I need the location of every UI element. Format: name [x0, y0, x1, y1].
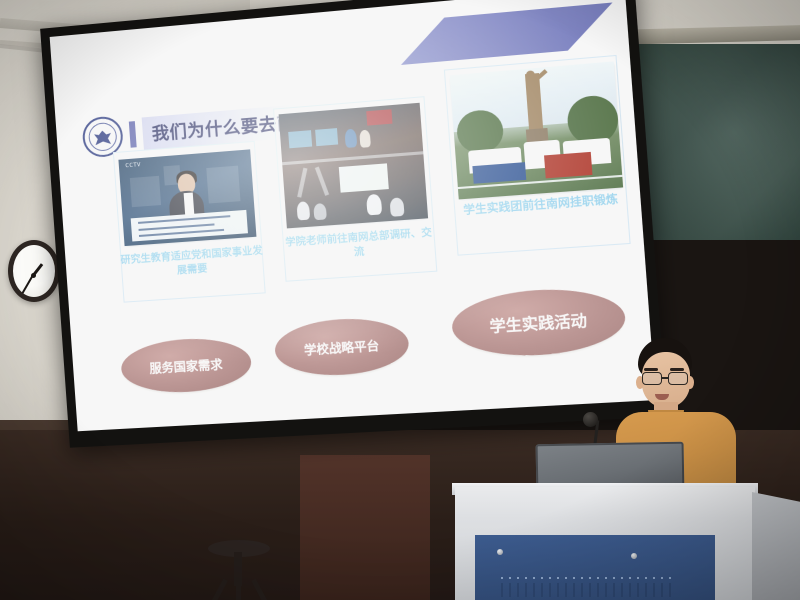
vent-slot — [533, 583, 535, 597]
vent-slot — [565, 583, 567, 597]
vent-slot — [669, 583, 671, 597]
photo-news-broadcast: CCTV — [118, 149, 256, 246]
vent-slot — [621, 583, 623, 597]
crowd-blob-5 — [345, 129, 358, 148]
vent-slot — [509, 583, 511, 597]
crowd-blob-1 — [296, 202, 310, 221]
vent-dot — [541, 577, 543, 579]
vent-dot — [589, 577, 591, 579]
vent-dot — [549, 577, 551, 579]
vent-dot — [525, 577, 527, 579]
lecture-hall-scene: 我们为什么要去南网实习? CCTV — [0, 0, 800, 600]
vent-slot — [501, 583, 503, 597]
vent-slot — [557, 583, 559, 597]
vent-slot — [589, 583, 591, 597]
vent-dot — [581, 577, 583, 579]
lower-third-line-3 — [139, 229, 225, 237]
podium-side-panel — [752, 492, 800, 600]
crowd-blob-2 — [313, 203, 327, 221]
vent-slot — [573, 583, 575, 597]
vent-dot — [613, 577, 615, 579]
glasses-bridge — [662, 377, 668, 379]
vent-dot — [557, 577, 559, 579]
pill-2-label: 学校战略平台 — [303, 336, 379, 358]
truss-1 — [297, 167, 307, 197]
lower-third-line-1 — [138, 215, 231, 224]
vent-slot — [637, 583, 639, 597]
blue-banner — [473, 162, 526, 183]
podium-vent-group — [501, 577, 691, 597]
vent-dot — [645, 577, 647, 579]
podium-screw-right — [631, 553, 637, 559]
vent-slot — [661, 583, 663, 597]
projection-screen: 我们为什么要去南网实习? CCTV — [40, 0, 667, 448]
podium-front-panel — [475, 535, 715, 600]
presentation-slide: 我们为什么要去南网实习? CCTV — [50, 0, 656, 431]
presenter-brow-left — [644, 368, 658, 371]
vent-dot — [573, 577, 575, 579]
pill-3-label: 学生实践活动 — [489, 309, 588, 337]
anchor-shirt — [184, 192, 195, 215]
vent-dot — [629, 577, 631, 579]
vent-dot — [669, 577, 671, 579]
vent-dot — [605, 577, 607, 579]
presenter-brow-right — [670, 368, 684, 371]
vent-dot — [533, 577, 535, 579]
monitor-1 — [288, 130, 312, 148]
vent-dot — [509, 577, 511, 579]
photo-control-room — [279, 103, 428, 229]
vent-dot — [653, 577, 655, 579]
crowd-blob-4 — [389, 197, 405, 216]
vent-slot — [645, 583, 647, 597]
vent-slot — [597, 583, 599, 597]
podium-screw-left — [497, 549, 503, 555]
truss-2 — [315, 166, 329, 195]
glasses-lens-left — [642, 372, 662, 385]
vent-slot — [581, 583, 583, 597]
clock-center-dot — [31, 273, 36, 278]
vent-slot — [541, 583, 543, 597]
vent-dot — [565, 577, 567, 579]
vent-slot — [549, 583, 551, 597]
projection-display — [339, 163, 389, 192]
studio-panel-1 — [130, 176, 161, 208]
crowd-blob-6 — [359, 130, 372, 148]
vent-slot — [613, 583, 615, 597]
crowd-blob-3 — [366, 194, 382, 216]
screen-frame: 我们为什么要去南网实习? CCTV — [40, 0, 667, 448]
vent-dot — [517, 577, 519, 579]
red-signage — [366, 110, 393, 126]
vent-dot — [661, 577, 663, 579]
studio-panel-2 — [206, 166, 240, 203]
mezzanine-rail — [282, 151, 423, 165]
vent-slot — [605, 583, 607, 597]
vent-dot — [501, 577, 503, 579]
vent-dot — [637, 577, 639, 579]
vent-dot — [621, 577, 623, 579]
news-lower-third — [131, 210, 249, 241]
vent-dot — [597, 577, 599, 579]
wall-clock — [8, 240, 60, 302]
vent-slot — [525, 583, 527, 597]
monitor-2 — [315, 128, 339, 146]
pill-1-label: 服务国家需求 — [149, 355, 223, 377]
red-banner — [544, 152, 592, 178]
stool-leg-center — [236, 580, 241, 600]
vent-slot — [517, 583, 519, 597]
vent-slot — [653, 583, 655, 597]
glasses-lens-right — [668, 372, 688, 385]
photo-statue-group — [450, 61, 624, 199]
microphone-icon — [583, 412, 598, 427]
vent-slot — [629, 583, 631, 597]
cctv-watermark: CCTV — [125, 162, 141, 169]
rear-door-panel — [300, 455, 430, 600]
